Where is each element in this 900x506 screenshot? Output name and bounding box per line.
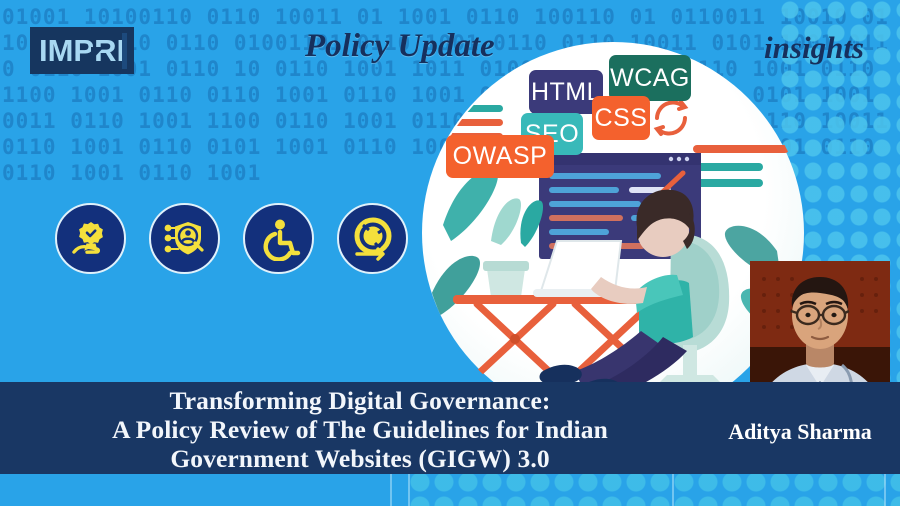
impri-logo-tail (91, 47, 104, 61)
data-privacy-shield-icon (162, 216, 208, 262)
badge-data-privacy[interactable] (149, 203, 220, 274)
bottom-strip-divider-edge (884, 470, 886, 506)
accessibility-wheelchair-icon (257, 217, 301, 261)
tag-wcag: WCAG (609, 55, 691, 101)
tag-owasp: OWASP (446, 135, 554, 178)
impri-logo-bar (122, 33, 127, 69)
poster-title-line-2: A Policy Review of The Guidelines for In… (30, 415, 690, 444)
bottom-strip-divider-right (672, 470, 674, 506)
poster-canvas: 01001 10100110 0110 10011 01 1001 0110 1… (0, 0, 900, 506)
feature-badge-row (55, 203, 408, 274)
badge-sustainability[interactable] (337, 203, 408, 274)
poster-title-line-3: Government Websites (GIGW) 3.0 (30, 444, 690, 473)
badge-quality-assurance[interactable] (55, 203, 126, 274)
quality-assurance-icon (68, 216, 114, 262)
poster-title: Transforming Digital Governance: A Polic… (30, 386, 690, 473)
tag-css: CSS (592, 96, 650, 140)
background-dot-grid-bottom (410, 470, 900, 506)
impri-logo-text: IMPRI (39, 34, 125, 67)
bottom-strip-divider-left (390, 470, 392, 506)
impri-logo[interactable]: IMPRI (30, 27, 134, 74)
author-name: Aditya Sharma (700, 419, 900, 445)
sustainability-cycle-icon (350, 216, 396, 262)
bottom-strip-divider-mid (408, 470, 410, 506)
badge-accessibility[interactable] (243, 203, 314, 274)
poster-title-line-1: Transforming Digital Governance: (30, 386, 690, 415)
